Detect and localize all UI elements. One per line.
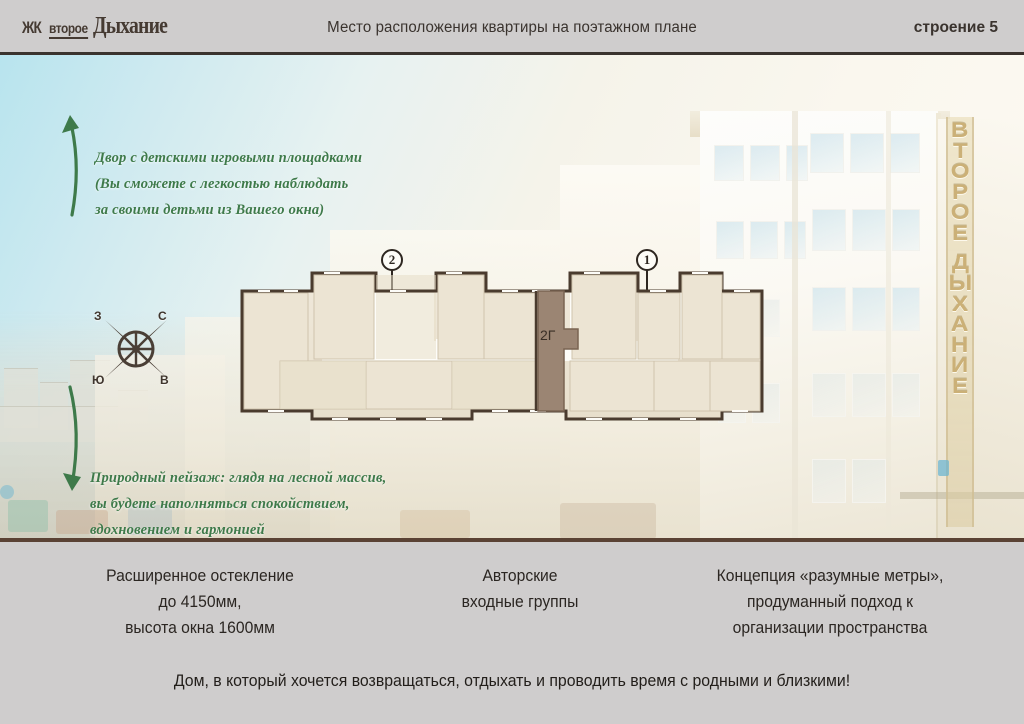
compass-label-north: С [158, 309, 167, 323]
feature-line: организации пространства [659, 615, 1001, 641]
street-sign-marker [938, 460, 949, 476]
sign-letter: Ы [948, 274, 972, 295]
sign-letter: Т [953, 142, 968, 163]
compass-rose: З С Ю В [92, 307, 180, 391]
page-title: Место расположения квартиры на поэтажном… [15, 0, 1008, 55]
building-number-label: строение 5 [914, 0, 998, 55]
annotation-line: Природный пейзаж: глядя на лесной массив… [90, 465, 386, 491]
feature-line: Расширенное остекление [29, 563, 371, 589]
courtyard-greenery [8, 500, 48, 532]
sign-letter: Д [951, 253, 968, 274]
feature-entrance-groups: Авторские входные группы [397, 563, 644, 615]
sign-letter: О [951, 162, 970, 183]
annotation-line: вы будете наполняться спокойствием, [90, 491, 386, 517]
background-photo: В Т О Р О Е Д Ы Х А Н И Е Двор с д [0, 55, 1024, 542]
page-header: ЖК второе Дыхание Место расположения ква… [0, 0, 1024, 55]
compass-label-south: Ю [92, 373, 104, 387]
playground-marker [0, 485, 14, 499]
compass-label-west: З [94, 309, 102, 323]
feature-line: продуманный подход к [659, 589, 1001, 615]
sign-letter: В [951, 121, 968, 142]
entrance-canopy [560, 503, 656, 539]
sign-letter: А [951, 315, 968, 336]
feature-glazing: Расширенное остекление до 4150мм, высота… [29, 563, 371, 641]
up-arrow-icon [48, 87, 96, 219]
sign-letter: О [951, 203, 970, 224]
annotation-line: за своими детьми из Вашего окна) [95, 197, 362, 223]
sign-letter: Р [952, 183, 968, 204]
floor-plan-outline[interactable] [240, 241, 764, 431]
feature-line: входные группы [397, 589, 644, 615]
courtyard-bench [400, 510, 470, 538]
floor-plan[interactable]: 2 1 [240, 241, 764, 431]
floorplan-brochure-page: ЖК второе Дыхание Место расположения ква… [0, 0, 1024, 724]
annotation-line: вдохновением и гармонией [90, 517, 386, 542]
feature-line: до 4150мм, [29, 589, 371, 615]
feature-line: высота окна 1600мм [29, 615, 371, 641]
feature-line: Концепция «разумные метры», [659, 563, 1001, 589]
annotation-line: Двор с детскими игровыми площадками [95, 145, 362, 171]
sign-letter: Х [952, 295, 968, 316]
sign-letter: Е [952, 377, 968, 398]
building-vertical-sign: В Т О Р О Е Д Ы Х А Н И Е [946, 117, 974, 527]
down-arrow-icon [48, 385, 96, 515]
compass-label-east: В [160, 373, 169, 387]
apartment-label-2g: 2Г [540, 327, 555, 343]
sign-letter: И [951, 356, 968, 377]
features-panel: Расширенное остекление до 4150мм, высота… [0, 546, 1024, 724]
annotation-courtyard: Двор с детскими игровыми площадками (Вы … [95, 145, 362, 223]
feature-line: Авторские [397, 563, 644, 589]
feature-smart-meters: Концепция «разумные метры», продуманный … [659, 563, 1001, 641]
sign-letter: Е [952, 224, 968, 245]
sign-letter: Н [951, 336, 968, 357]
annotation-line: (Вы сможете с легкостью наблюдать [95, 171, 362, 197]
page-tagline: Дом, в который хочется возвращаться, отд… [20, 672, 1003, 691]
annotation-nature: Природный пейзаж: глядя на лесной массив… [90, 465, 386, 542]
